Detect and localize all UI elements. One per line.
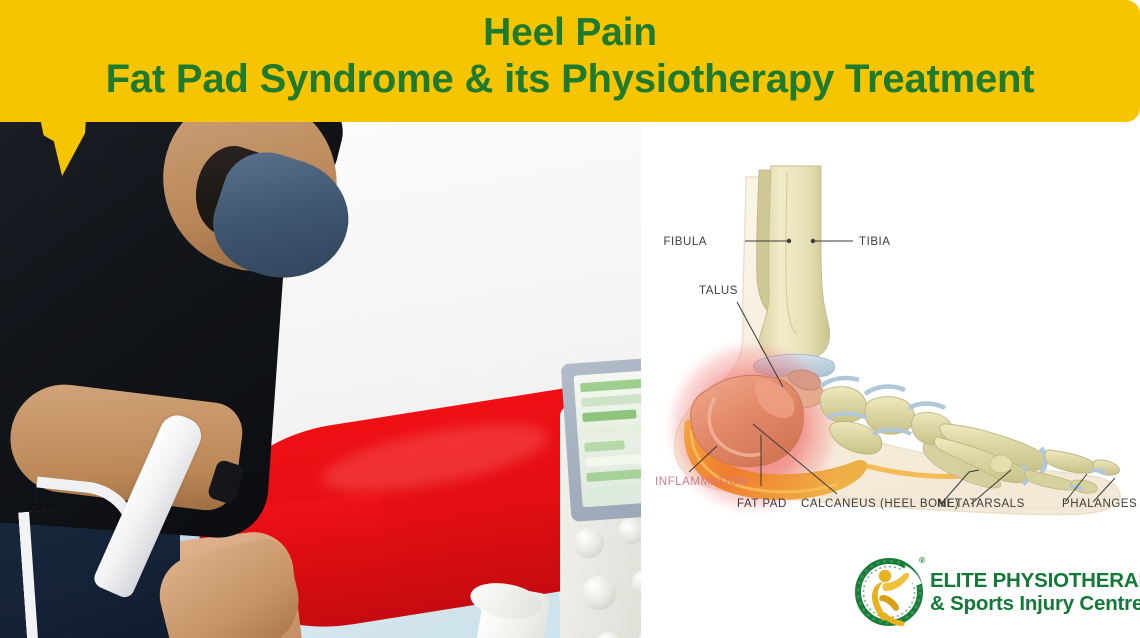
machine-knob[interactable] <box>574 528 604 558</box>
label-inflammation: INFLAMMATION <box>655 476 748 488</box>
machine-knob[interactable] <box>618 518 641 544</box>
leader-dot-fibula <box>787 239 791 243</box>
leader-dot-tibia <box>811 239 815 243</box>
joint-cartilage <box>865 387 905 394</box>
runner-ring-icon <box>852 555 926 629</box>
machine-knob[interactable] <box>582 576 616 610</box>
logo-wordmark: ELITE PHYSIOTHERAPY & Sports Injury Cent… <box>930 569 1140 616</box>
machine-knob[interactable] <box>632 570 641 594</box>
machine-display-row <box>583 423 641 437</box>
label-phalanges: PHALANGES <box>1062 498 1137 510</box>
label-fat-pad: FAT PAD <box>737 498 787 510</box>
logo-line-2: & Sports Injury Centre <box>930 592 1140 615</box>
sesamoid-bone <box>990 455 1012 473</box>
machine-display[interactable] <box>574 369 641 508</box>
machine-display-row <box>586 469 641 482</box>
label-calcaneus: CALCANEUS (HEEL BONE) <box>801 498 959 510</box>
title-banner: Heel Pain Fat Pad Syndrome & its Physiot… <box>0 0 1140 122</box>
machine-display-row <box>582 409 636 422</box>
clinic-logo[interactable]: ® ELITE PHYSIOTHERAPY & Sports Injury Ce… <box>852 551 1140 633</box>
label-fibula: FIBULA <box>663 236 707 248</box>
banner-title-line-2: Fat Pad Syndrome & its Physiotherapy Tre… <box>0 59 1140 99</box>
machine-display-row <box>585 452 641 467</box>
machine-display-row <box>581 393 641 408</box>
machine-display-row <box>584 440 625 452</box>
therapy-photo <box>0 110 641 638</box>
infographic-page: Heel Pain Fat Pad Syndrome & its Physiot… <box>0 0 1140 638</box>
label-metatarsals: METATARSALS <box>937 498 1025 510</box>
machine-display-row <box>580 379 641 392</box>
label-talus: TALUS <box>699 285 738 297</box>
machine-knob[interactable] <box>594 632 624 638</box>
banner-title-line-1: Heel Pain <box>0 13 1140 52</box>
logo-line-1: ELITE PHYSIOTHERAPY <box>930 569 1140 592</box>
machine-display-row <box>587 483 641 497</box>
phalanx-joint-cartilage <box>1091 470 1107 475</box>
logo-emblem: ® <box>852 555 926 629</box>
proximal-phalanx <box>1045 450 1097 473</box>
joint-cartilage <box>909 404 945 409</box>
registered-mark: ® <box>919 556 925 565</box>
label-tibia: TIBIA <box>859 236 891 248</box>
calcaneus-bone <box>691 375 804 466</box>
